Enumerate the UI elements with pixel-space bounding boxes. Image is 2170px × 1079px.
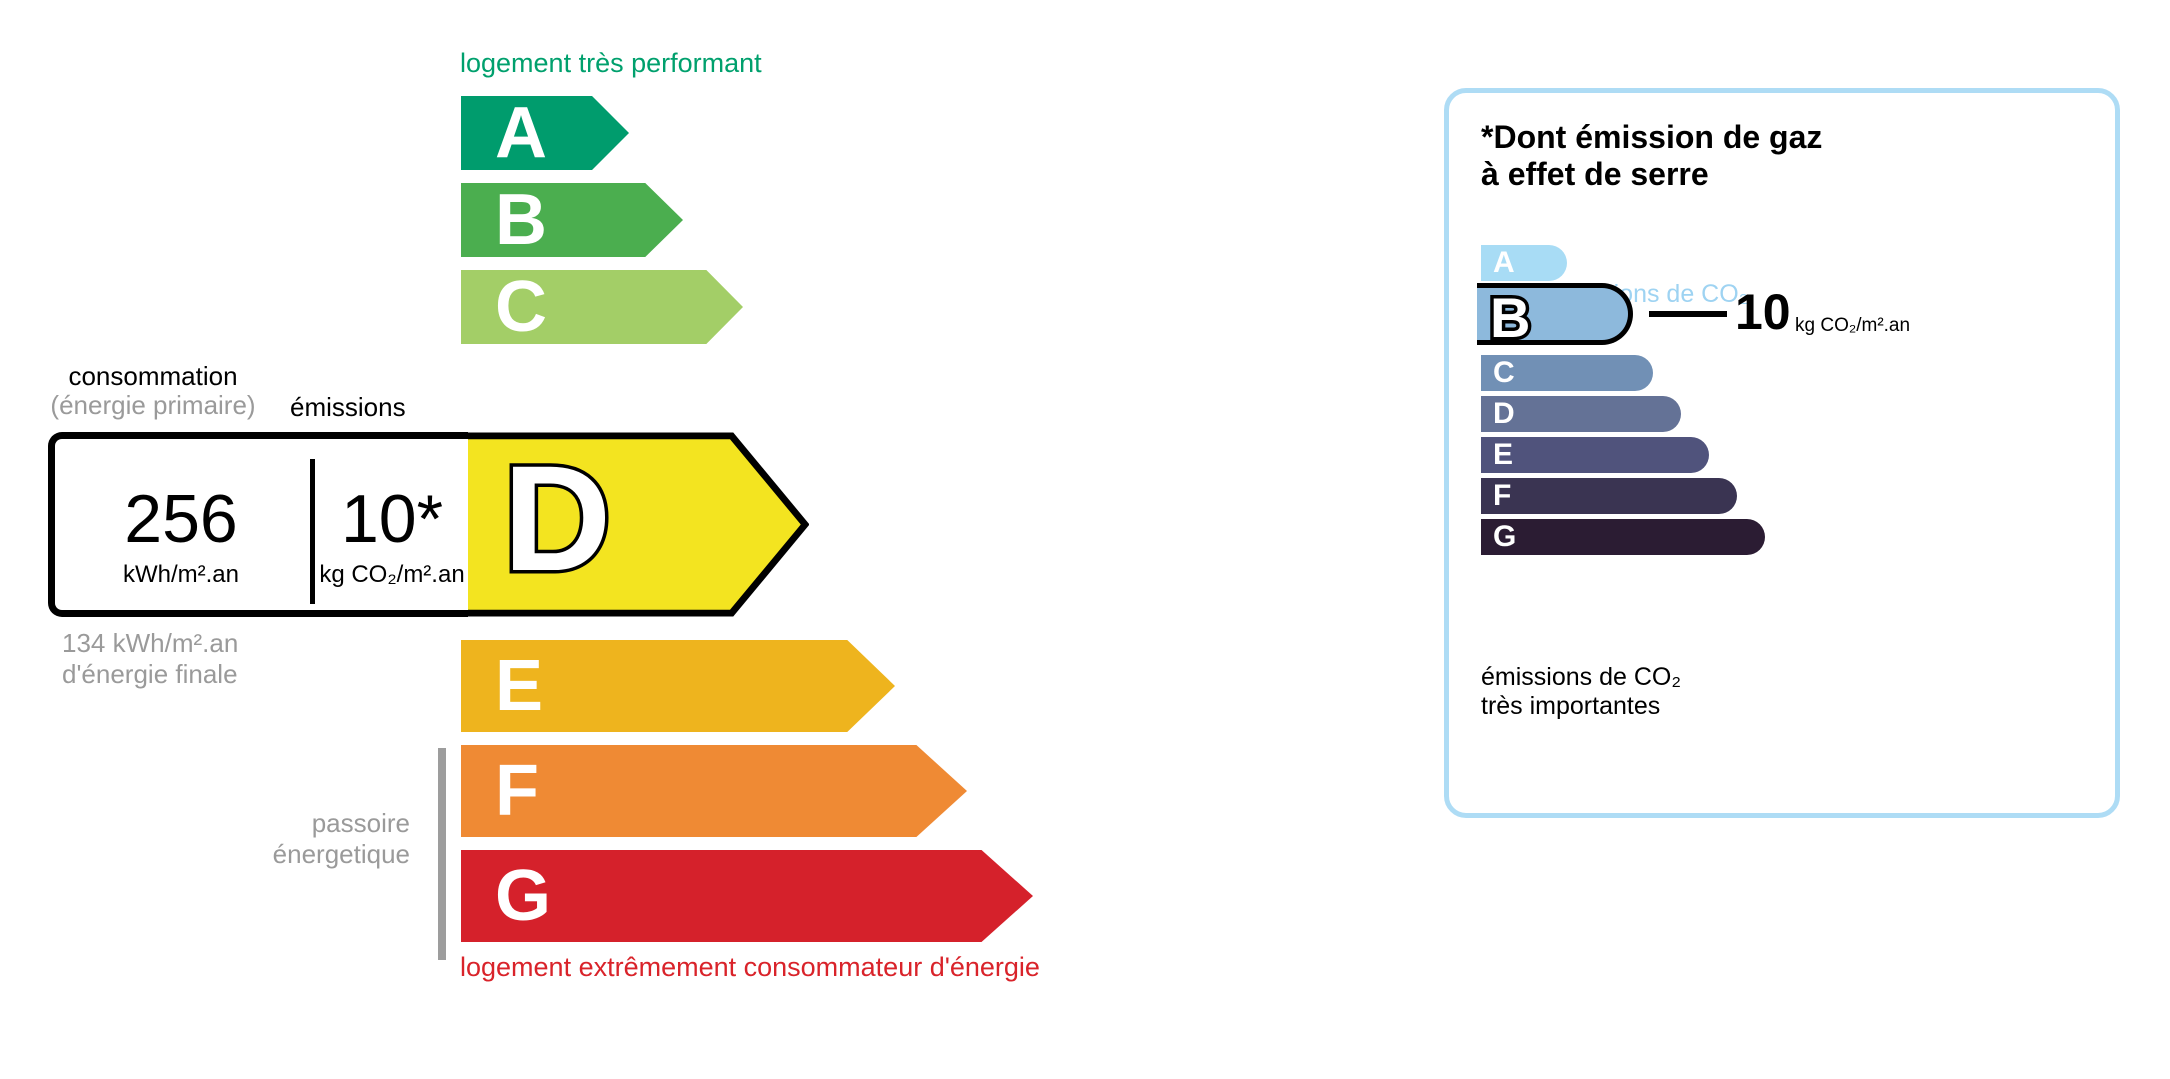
svg-text:D: D (503, 450, 609, 600)
co2-callout-leader-line (1649, 311, 1727, 317)
co2-emissions-panel: *Dont émission de gaz à effet de serre p… (1444, 88, 2120, 818)
energy-class-letter-f: F (495, 755, 538, 827)
consumption-value: 256 (55, 485, 307, 553)
co2-class-row-b-selected[interactable]: B (1477, 283, 1633, 345)
co2-title-line1: *Dont émission de gaz (1481, 119, 1822, 156)
energy-class-row-b[interactable]: B (461, 183, 683, 257)
co2-class-row-d[interactable]: D (1481, 396, 1681, 432)
passoire-line2: énergetique (180, 839, 410, 870)
energy-class-row-g[interactable]: G (461, 850, 1033, 942)
final-energy-line2: d'énergie finale (62, 659, 238, 690)
co2-callout-unit: kg CO₂/m².an (1795, 315, 1910, 337)
energy-class-row-e[interactable]: E (461, 640, 895, 732)
co2-bottom-line2: très importantes (1481, 692, 1681, 721)
co2-class-row-c[interactable]: C (1481, 355, 1653, 391)
co2-bottom-caption: émissions de CO₂ très importantes (1481, 663, 1681, 721)
co2-bar-e: E (1481, 437, 1709, 473)
co2-class-letter-e: E (1493, 440, 1513, 470)
svg-text:B: B (1490, 291, 1530, 347)
emissions-label: émissions (290, 392, 406, 423)
energy-class-row-d-selected[interactable]: D (461, 432, 809, 617)
co2-class-row-e[interactable]: E (1481, 437, 1709, 473)
co2-class-letter-b: B (1487, 291, 1549, 347)
co2-class-letter-f: F (1493, 481, 1511, 511)
co2-callout-value: 10 (1735, 287, 1791, 337)
final-energy-line1: 134 kWh/m².an (62, 628, 238, 659)
co2-bar-b: B (1477, 283, 1633, 345)
co2-bar-f: F (1481, 478, 1737, 514)
emission-unit: kg CO₂/m².an (313, 563, 471, 587)
passoire-line1: passoire (180, 808, 410, 839)
co2-bar-d: D (1481, 396, 1681, 432)
energy-class-letter-g: G (495, 860, 550, 932)
scale-top-caption: logement très performant (460, 48, 762, 79)
co2-class-letter-g: G (1493, 522, 1516, 552)
co2-bar-g: G (1481, 519, 1765, 555)
consumption-label: consommation (énergie primaire) (48, 362, 258, 420)
energy-class-row-a[interactable]: A (461, 96, 629, 170)
co2-class-row-g[interactable]: G (1481, 519, 1765, 555)
co2-title-line2: à effet de serre (1481, 156, 1822, 193)
energy-performance-scale: logement très performant A B C (0, 0, 1400, 1079)
passoire-bracket (438, 748, 446, 960)
consumption-label-sub: (énergie primaire) (48, 391, 258, 420)
scale-bottom-caption: logement extrêmement consommateur d'éner… (460, 952, 1040, 983)
consumption-value-cell: 256 kWh/m².an (55, 485, 307, 587)
co2-bottom-line1: émissions de CO₂ (1481, 663, 1681, 692)
emission-value-cell: 10* kg CO₂/m².an (313, 485, 471, 587)
energy-class-row-c[interactable]: C (461, 270, 743, 344)
energy-class-letter-e: E (495, 650, 542, 722)
co2-bar-c: C (1481, 355, 1653, 391)
passoire-energetique-label: passoire énergetique (180, 808, 410, 870)
energy-class-letter-b: B (495, 184, 546, 256)
energy-class-letter-a: A (495, 97, 546, 169)
energy-class-letter-c: C (495, 271, 546, 343)
co2-class-letter-d: D (1493, 399, 1515, 429)
consumption-unit: kWh/m².an (55, 563, 307, 587)
co2-class-row-f[interactable]: F (1481, 478, 1737, 514)
co2-class-letter-a: A (1493, 248, 1515, 278)
energy-class-row-f[interactable]: F (461, 745, 967, 837)
emission-value: 10* (313, 485, 471, 553)
co2-panel-title: *Dont émission de gaz à effet de serre (1481, 119, 1822, 193)
energy-class-letter-d: D (499, 450, 619, 600)
co2-class-letter-c: C (1493, 358, 1515, 388)
co2-bar-a: A (1481, 245, 1567, 281)
final-energy-label: 134 kWh/m².an d'énergie finale (62, 628, 238, 690)
values-box: 256 kWh/m².an 10* kg CO₂/m².an (48, 432, 468, 617)
co2-class-row-a[interactable]: A (1481, 245, 1567, 281)
consumption-label-main: consommation (48, 362, 258, 391)
